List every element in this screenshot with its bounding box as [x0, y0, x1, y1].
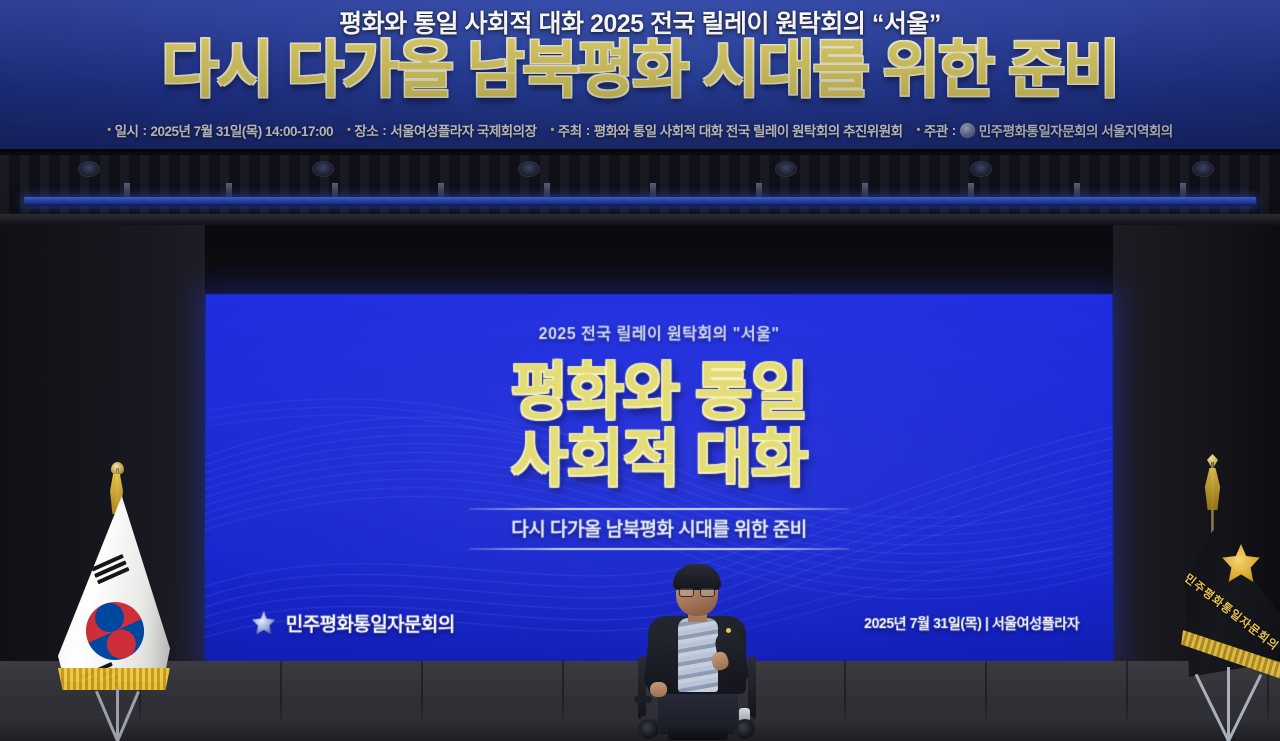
stage-spotlight-icon: [970, 161, 992, 177]
organizer-value: 민주평화통일자문회의 서울지역회의: [979, 120, 1173, 140]
stage-spotlight-icon: [312, 161, 334, 177]
organization-flag: 민주평화통일자문회의: [1183, 452, 1280, 741]
screen-subtitle-block: 다시 다가올 남북평화 시대를 위한 준비: [469, 508, 849, 550]
place-label: 장소: [354, 120, 378, 140]
subtitle-rule-bottom: [469, 548, 849, 550]
eyeglasses-icon: [679, 588, 715, 597]
speaker-left-hand: [650, 682, 667, 697]
wheelchair-wheel: [638, 719, 660, 741]
screen-organization-logo: 민주평화통일자문회의: [251, 610, 455, 637]
speaker-shoes: [668, 726, 728, 740]
trigram-geon-icon: [91, 554, 131, 587]
screen-main-title: 평화와 통일 사회적 대화: [205, 360, 1113, 494]
screen-subtitle: 다시 다가올 남북평화 시대를 위한 준비: [469, 510, 849, 548]
blue-light-bar: [24, 197, 1256, 206]
stage-spotlight-icon: [1192, 161, 1214, 177]
organizer-label: 주관: [924, 120, 948, 140]
bullet-icon: •: [347, 124, 350, 136]
flag-tripod-stand: [1197, 664, 1273, 741]
place-value: 서울여성플라자 국제회의장: [390, 120, 536, 140]
stage-spotlight-icon: [78, 161, 100, 177]
colon-separator: :: [952, 123, 956, 138]
bullet-icon: •: [107, 124, 110, 136]
host-value: 평화와 통일 사회적 대화 전국 릴레이 원탁회의 추진위원회: [594, 120, 903, 140]
speaker-in-wheelchair: [616, 556, 778, 741]
stage-spotlight-icon: [775, 161, 797, 177]
bullet-icon: •: [917, 124, 920, 136]
mupyeongtong-emblem-icon: [251, 611, 277, 637]
stage-spotlight-icon: [518, 161, 540, 177]
banner-info-place: • 장소 : 서울여성플라자 국제회의장: [347, 120, 537, 140]
screen-date-venue: 2025년 7월 31일(목) | 서울여성플라자: [864, 613, 1079, 633]
flag-tassel-icon: [1203, 468, 1222, 510]
banner-subtitle-line: 평화와 통일 사회적 대화 2025 전국 릴레이 원탁회의 “서울”: [0, 4, 1280, 40]
banner-info-line: • 일시 : 2025년 7월 31일(목) 14:00-17:00 • 장소 …: [0, 120, 1280, 140]
screen-kicker-text: 2025 전국 릴레이 원탁회의 "서울": [205, 320, 1112, 344]
mupyeongtong-emblem-icon: [960, 123, 975, 138]
colon-separator: :: [142, 123, 146, 138]
screen-title-line-2: 사회적 대화: [205, 427, 1113, 494]
banner-info-host: • 주최 : 평화와 통일 사회적 대화 전국 릴레이 원탁회의 추진위원회: [551, 120, 903, 140]
speaker-hair: [673, 564, 721, 590]
korean-national-flag: [52, 462, 172, 741]
taeguk-symbol-icon: [77, 593, 154, 670]
date-value: 2025년 7월 31일(목) 14:00-17:00: [150, 120, 333, 140]
banner-info-organizer: • 주관 : 민주평화통일자문회의 서울지역회의: [917, 120, 1173, 140]
banner-info-date: • 일시 : 2025년 7월 31일(목) 14:00-17:00: [107, 120, 333, 140]
taegeukgi-cloth: [58, 496, 170, 682]
colon-separator: :: [382, 123, 386, 138]
host-label: 주최: [558, 120, 582, 140]
screen-title-line-1: 평화와 통일: [205, 360, 1113, 427]
colon-separator: :: [586, 123, 590, 138]
date-label: 일시: [115, 120, 139, 140]
flag-tripod-stand: [92, 684, 144, 741]
lapel-pin-icon: [726, 628, 731, 633]
bullet-icon: •: [551, 124, 554, 136]
banner-main-title: 다시 다가올 남북평화 시대를 위한 준비: [0, 40, 1280, 102]
auditorium-stage-scene: 2025 전국 릴레이 원탁회의 "서울" 평화와 통일 사회적 대화 다시 다…: [0, 0, 1280, 741]
screen-logo-text: 민주평화통일자문회의: [286, 610, 455, 637]
event-banner: 평화와 통일 사회적 대화 2025 전국 릴레이 원탁회의 “서울” 다시 다…: [0, 0, 1280, 152]
